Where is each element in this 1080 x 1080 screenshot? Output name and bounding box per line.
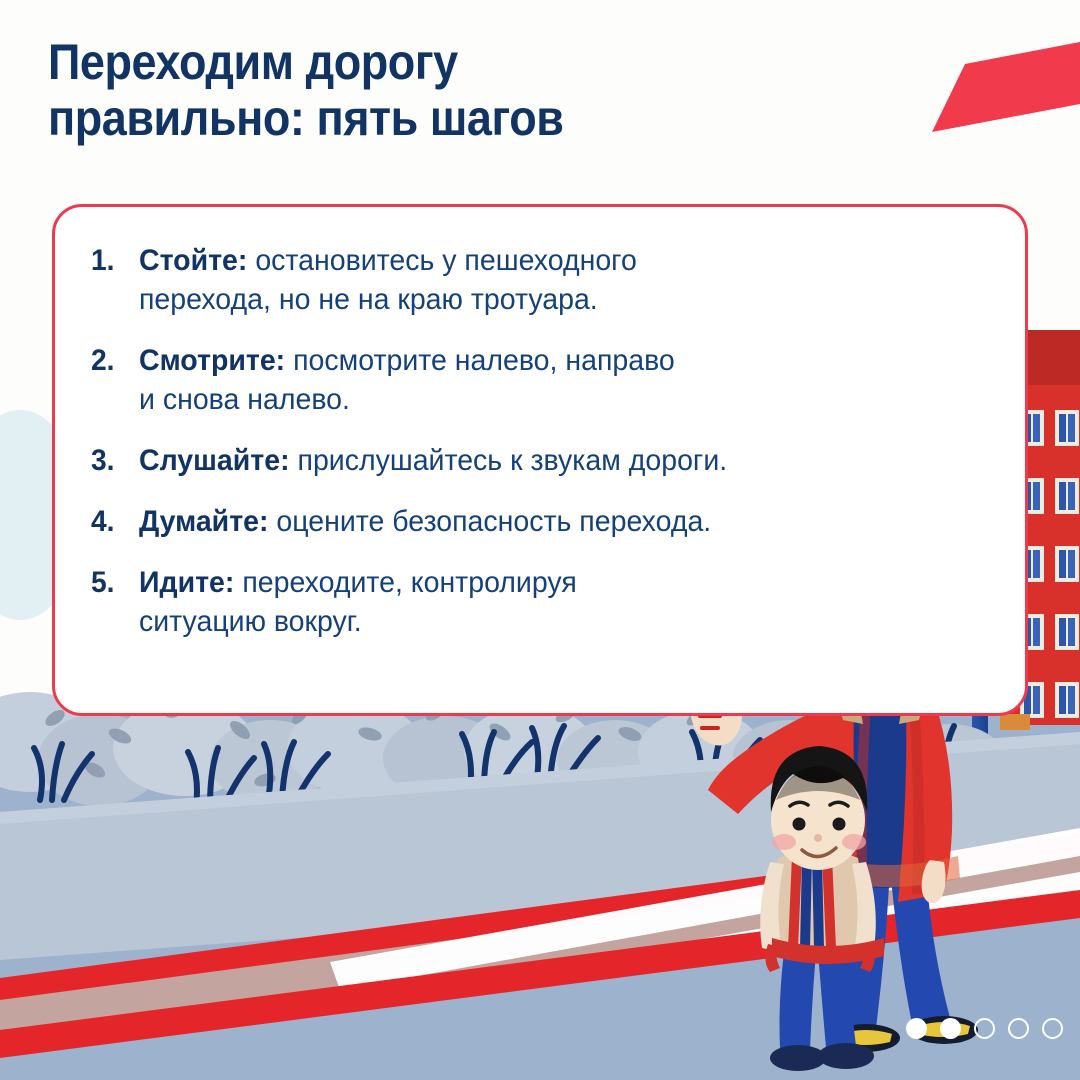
step-number: 2. [91, 341, 136, 380]
infographic-canvas: Переходим дорогу правильно: пять шагов 1… [0, 0, 1080, 1080]
steps-list: 1. Стойте: остановитесь у пешеходного пе… [91, 241, 995, 641]
steps-card: 1. Стойте: остановитесь у пешеходного пе… [52, 204, 1028, 716]
step-body: прислушайтесь к звукам дороги. [290, 444, 728, 477]
title-line-1: Переходим дорогу [48, 34, 732, 90]
pagination-dot-5[interactable] [1042, 1018, 1063, 1039]
step-lead: Слушайте: [139, 444, 290, 477]
pagination-dot-4[interactable] [1008, 1018, 1029, 1039]
step-number: 4. [91, 502, 136, 541]
list-item: 3. Слушайте: прислушайтесь к звукам доро… [91, 441, 995, 480]
step-number: 5. [91, 563, 136, 602]
title-line-2: правильно: пять шагов [48, 90, 732, 146]
page-title: Переходим дорогу правильно: пять шагов [48, 34, 808, 146]
building-sign [1000, 714, 1030, 730]
step-lead: Смотрите: [139, 344, 285, 377]
step-text: Думайте: оцените безопасность перехода. [139, 502, 711, 541]
red-flag-shape [920, 34, 1080, 134]
pagination-dot-2[interactable] [940, 1018, 961, 1039]
list-item: 1. Стойте: остановитесь у пешеходного пе… [91, 241, 995, 319]
pagination-dot-3[interactable] [974, 1018, 995, 1039]
step-text: Слушайте: прислушайтесь к звукам дороги. [139, 441, 727, 480]
step-text: Смотрите: посмотрите налево, направо и с… [139, 341, 675, 419]
step-lead: Идите: [139, 566, 234, 599]
step-number: 1. [91, 241, 136, 280]
pagination-dot-1[interactable] [906, 1018, 927, 1039]
pagination-dots[interactable] [906, 1018, 1063, 1039]
step-number: 3. [91, 441, 136, 480]
list-item: 5. Идите: переходите, контролируя ситуац… [91, 563, 995, 641]
step-text: Идите: переходите, контролируя ситуацию … [139, 563, 577, 641]
step-text: Стойте: остановитесь у пешеходного перех… [139, 241, 637, 319]
list-item: 4. Думайте: оцените безопасность переход… [91, 502, 995, 541]
step-lead: Стойте: [139, 244, 247, 277]
step-lead: Думайте: [139, 505, 269, 538]
step-body: оцените безопасность перехода. [269, 505, 712, 538]
list-item: 2. Смотрите: посмотрите налево, направо … [91, 341, 995, 419]
